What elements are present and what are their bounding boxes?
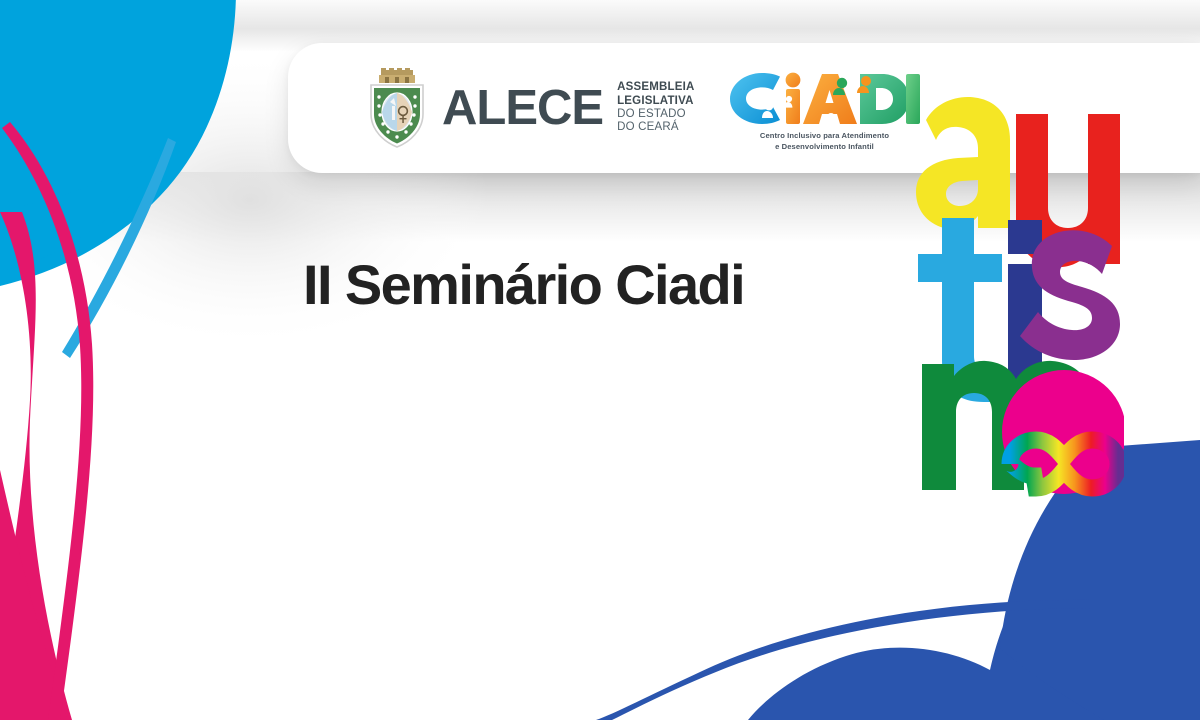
- page-title: II Seminário Ciadi: [303, 252, 744, 317]
- ciadi-logo: Centro Inclusivo para Atendimento e Dese…: [726, 65, 922, 152]
- alece-subtitle-line-1: ASSEMBLEIA: [617, 81, 694, 94]
- alece-subtitle-line-3: DO ESTADO: [617, 108, 694, 121]
- alece-wordmark: ALECE: [442, 84, 603, 133]
- alece-logo: ALECE ASSEMBLEIA LEGISLATIVA DO ESTADO D…: [366, 66, 694, 150]
- ciadi-wordmark-icon: [726, 65, 922, 127]
- alece-subtitle-line-2: LEGISLATIVA: [617, 95, 694, 108]
- autismo-logo: [912, 68, 1124, 498]
- alece-subtitle: ASSEMBLEIA LEGISLATIVA DO ESTADO DO CEAR…: [617, 81, 694, 134]
- alece-subtitle-line-4: DO CEARÁ: [617, 121, 694, 134]
- mural-crown: [379, 68, 415, 83]
- logo-row: ALECE ASSEMBLEIA LEGISLATIVA DO ESTADO D…: [366, 65, 922, 152]
- ciadi-tagline: Centro Inclusivo para Atendimento e Dese…: [760, 130, 889, 152]
- poster-canvas: ALECE ASSEMBLEIA LEGISLATIVA DO ESTADO D…: [0, 0, 1200, 720]
- ceara-coat-of-arms-icon: [366, 66, 428, 150]
- ciadi-tagline-line-1: Centro Inclusivo para Atendimento: [760, 130, 889, 141]
- ciadi-tagline-line-2: e Desenvolvimento Infantil: [760, 141, 889, 152]
- autismo-letter-a: [916, 97, 1010, 229]
